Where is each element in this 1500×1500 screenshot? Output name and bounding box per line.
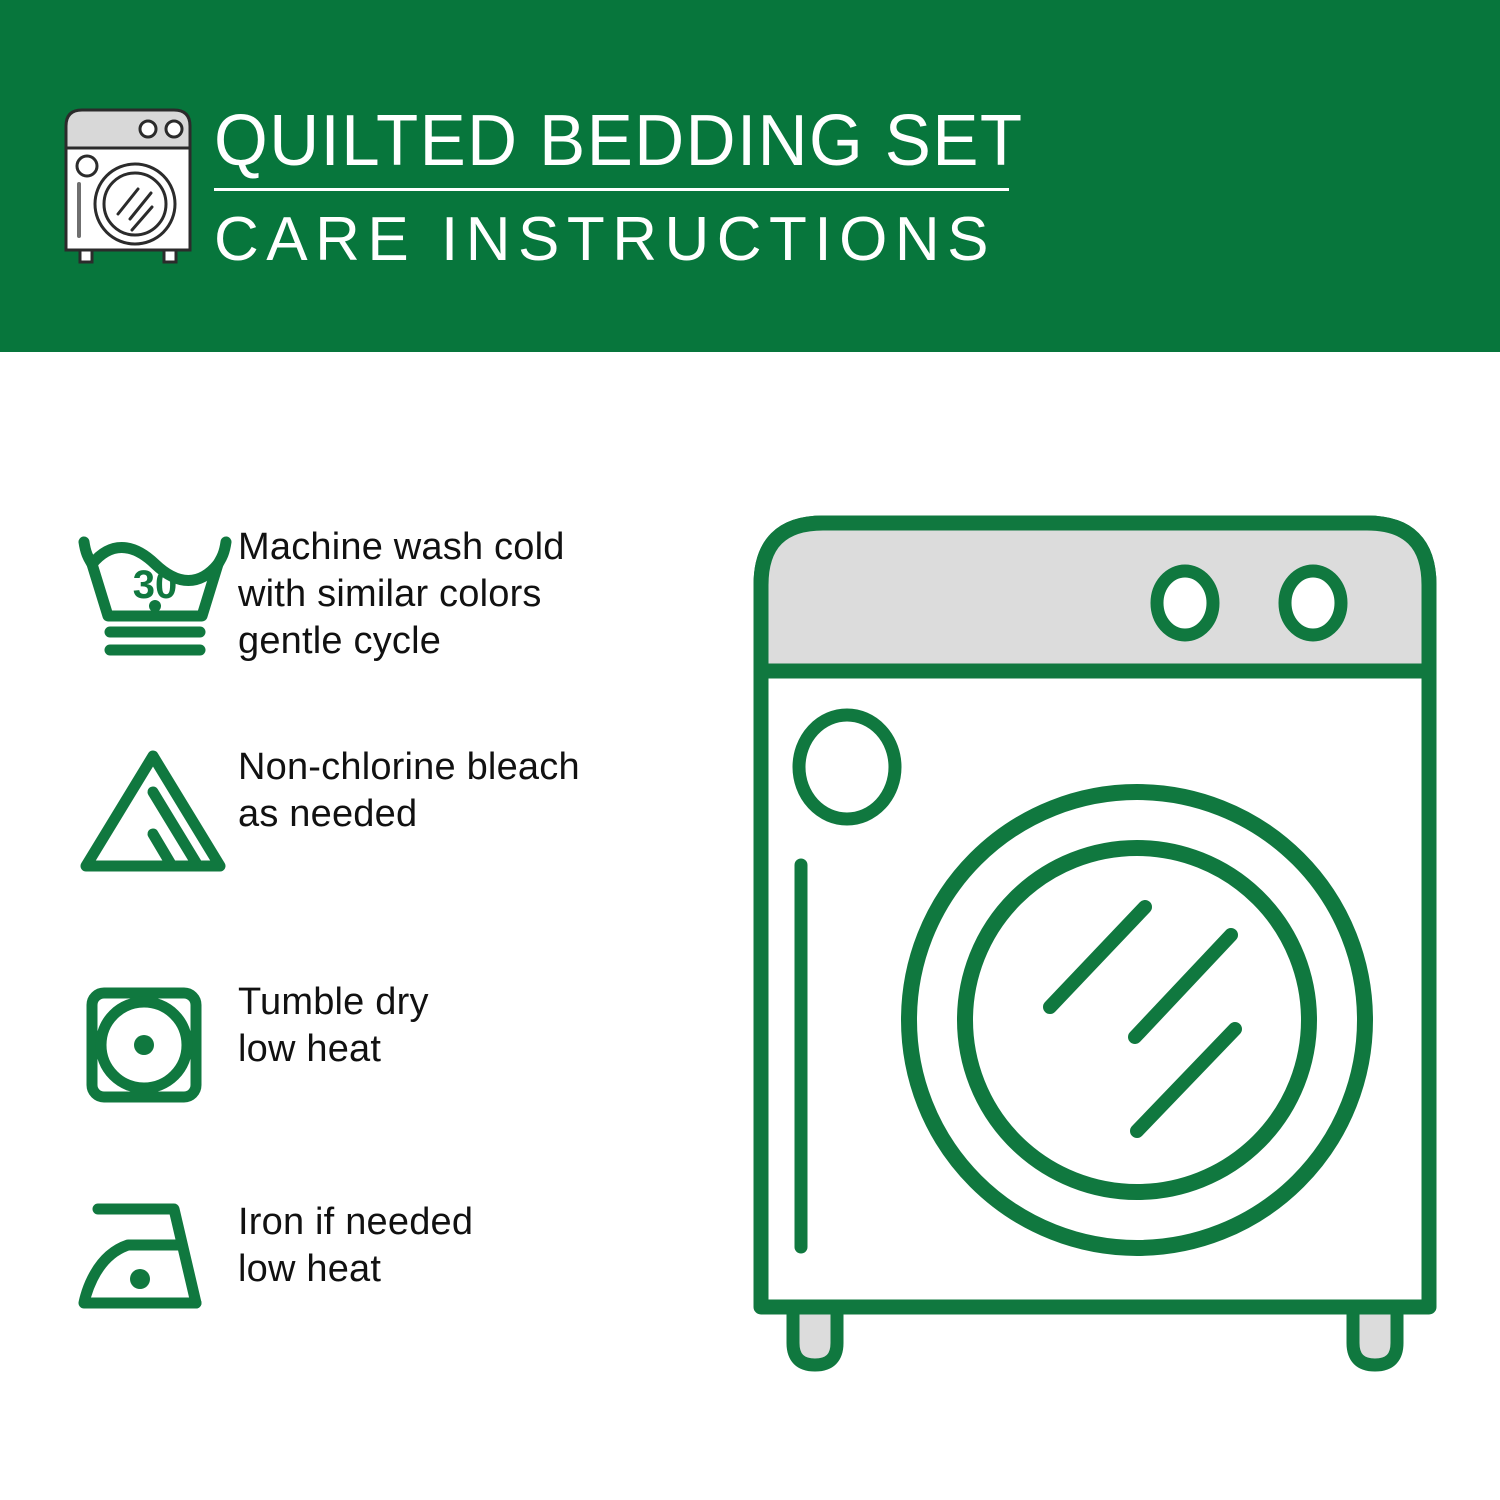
tumble-dry-low-icon: [70, 975, 238, 1115]
header-text-block: QUILTED BEDDING SET CARE INSTRUCTIONS: [214, 100, 1034, 275]
machine-dispenser-button: [799, 715, 895, 819]
machine-knob-left: [1157, 571, 1213, 635]
care-instructions-infographic: QUILTED BEDDING SET CARE INSTRUCTIONS 30: [0, 0, 1500, 1500]
machine-drum-inner: [965, 848, 1309, 1192]
care-item-tumble-dry: Tumble dry low heat: [70, 975, 710, 1115]
header-banner: QUILTED BEDDING SET CARE INSTRUCTIONS: [0, 0, 1500, 352]
wash-tub-30-gentle-icon: 30: [70, 520, 238, 660]
care-item-label: Non-chlorine bleach as needed: [238, 740, 580, 838]
page-subtitle: CARE INSTRUCTIONS: [214, 205, 1034, 275]
care-item-label: Tumble dry low heat: [238, 975, 429, 1073]
care-item-label: Iron if needed low heat: [238, 1195, 473, 1293]
title-divider: [214, 188, 1009, 191]
washing-machine-icon: [62, 104, 194, 264]
care-item-bleach: Non-chlorine bleach as needed: [70, 740, 710, 880]
non-chlorine-bleach-triangle-icon: [70, 740, 238, 880]
page-title: QUILTED BEDDING SET: [214, 100, 1001, 182]
care-item-iron: Iron if needed low heat: [70, 1195, 710, 1325]
care-item-label: Machine wash cold with similar colors ge…: [238, 520, 565, 665]
machine-knob-right: [1285, 571, 1341, 635]
front-load-washing-machine-illustration: [745, 495, 1445, 1395]
iron-low-heat-icon: [70, 1195, 238, 1325]
care-item-machine-wash: 30 Machine wash cold with similar colors…: [70, 520, 710, 665]
